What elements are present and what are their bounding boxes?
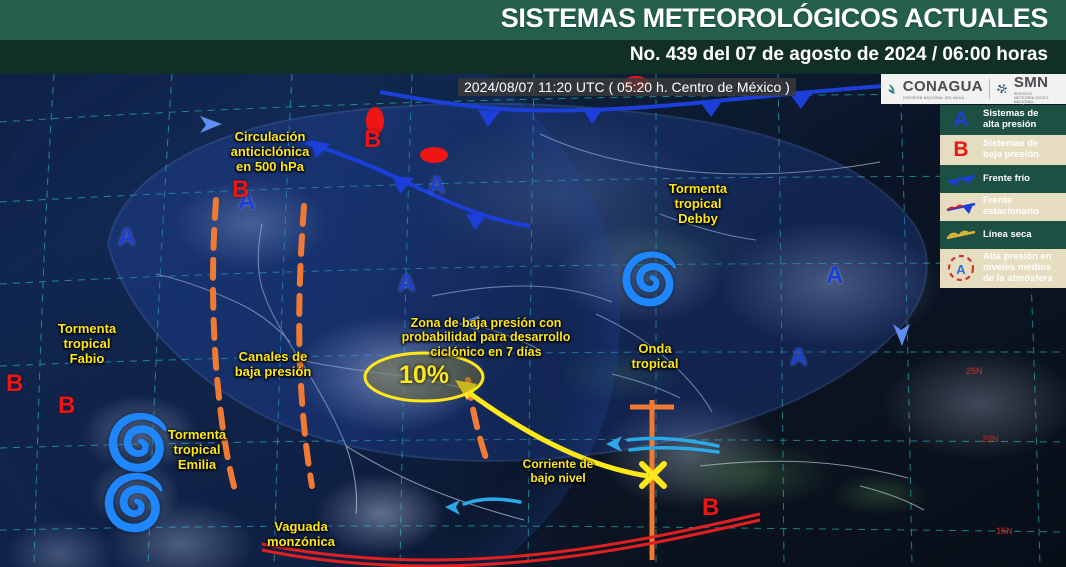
stationary-front-icon — [944, 199, 978, 215]
svg-text:25N: 25N — [966, 366, 983, 376]
annotation-anticyclone: Circulación anticiclónica en 500 hPa — [208, 130, 332, 175]
legend-item-stationary-front: Frente estacionario — [940, 193, 1066, 221]
cold-front-icon — [944, 171, 978, 187]
high-pressure-marker-a5: A — [826, 262, 843, 290]
high-pressure-marker-a3: A — [428, 172, 445, 200]
dry-line-icon — [944, 227, 978, 243]
smn-wordmark: SMN SERVICIO METEOROLÓGICO NACIONAL — [1014, 74, 1060, 104]
low-pressure-marker-b1: B — [232, 176, 249, 204]
svg-text:15N: 15N — [996, 526, 1013, 536]
annotation-storm-debby: Tormenta tropical Debby — [652, 182, 744, 227]
low-pressure-marker-b3: B — [6, 370, 23, 398]
annotation-low-pressure-channels: Canales de baja presión — [218, 350, 328, 380]
annotation-cyclogenesis-zone: Zona de baja presión con probabilidad pa… — [384, 316, 588, 359]
map-legend: A Sistemas de alta presión B Sistemas de… — [940, 105, 1066, 288]
svg-text:20N: 20N — [982, 434, 999, 444]
legend-label-high-pressure: Sistemas de alta presión — [983, 109, 1038, 131]
logo-divider — [989, 79, 990, 99]
low-pressure-marker-b2: B — [364, 126, 381, 154]
high-pressure-A-icon: A — [944, 108, 978, 132]
annotation-storm-emilia: Tormenta tropical Emilia — [150, 428, 244, 473]
legend-item-high-pressure: A Sistemas de alta presión — [940, 105, 1066, 135]
satellite-timestamp: 2024/08/07 11:20 UTC ( 05:20 h. Centro d… — [458, 78, 796, 96]
conagua-wordmark: CONAGUA COMISIÓN NACIONAL DEL AGUA — [903, 78, 983, 100]
cyclone-symbol-emilia: 🌀 — [100, 472, 167, 535]
smn-logo-icon — [996, 79, 1008, 99]
high-pressure-marker-a4: A — [398, 270, 415, 298]
low-pressure-marker-b4: B — [58, 392, 75, 420]
legend-item-mid-level-high: A Alta presión en niveles medios de la a… — [940, 249, 1066, 288]
annotation-low-level-jet: Corriente de bajo nivel — [502, 458, 614, 486]
agency-logos: CONAGUA COMISIÓN NACIONAL DEL AGUA SMN S… — [881, 74, 1066, 104]
legend-label-mid-level-high: Alta presión en niveles medios de la atm… — [983, 252, 1053, 285]
cyclone-symbol-debby: 🌀 — [618, 250, 680, 309]
high-pressure-marker-a6: A — [790, 344, 807, 372]
legend-item-dry-line: Línea seca — [940, 221, 1066, 249]
annotation-monsoon-trough: Vaguada monzónica — [248, 520, 354, 550]
page-title: SISTEMAS METEOROLÓGICOS ACTUALES — [501, 3, 1048, 34]
low-pressure-marker-b5: B — [702, 494, 719, 522]
weather-bulletin-page: SISTEMAS METEOROLÓGICOS ACTUALES No. 439… — [0, 0, 1066, 567]
satellite-map[interactable]: 25N 20N 15N — [0, 74, 1066, 567]
legend-label-dry-line: Línea seca — [983, 230, 1032, 241]
grid-coordinate-labels: 25N 20N 15N — [966, 366, 1013, 536]
annotation-storm-fabio: Tormenta tropical Fabio — [40, 322, 134, 367]
legend-item-cold-front: Frente frío — [940, 165, 1066, 193]
low-pressure-B-icon: B — [944, 138, 978, 162]
probability-value: 10% — [383, 361, 465, 390]
conagua-logo-icon — [887, 79, 897, 99]
svg-text:A: A — [956, 262, 966, 277]
annotation-tropical-wave: Onda tropical — [614, 342, 696, 372]
mid-level-high-icon: A — [944, 253, 978, 283]
legend-label-cold-front: Frente frío — [983, 174, 1030, 185]
legend-item-low-pressure: B Sistemas de baja presión — [940, 135, 1066, 165]
bulletin-number: No. 439 del 07 de agosto de 2024 / 06:00… — [630, 44, 1048, 66]
high-pressure-marker-a1: A — [118, 224, 135, 252]
legend-label-low-pressure: Sistemas de baja presión — [983, 139, 1039, 161]
legend-label-stationary-front: Frente estacionario — [983, 196, 1039, 218]
